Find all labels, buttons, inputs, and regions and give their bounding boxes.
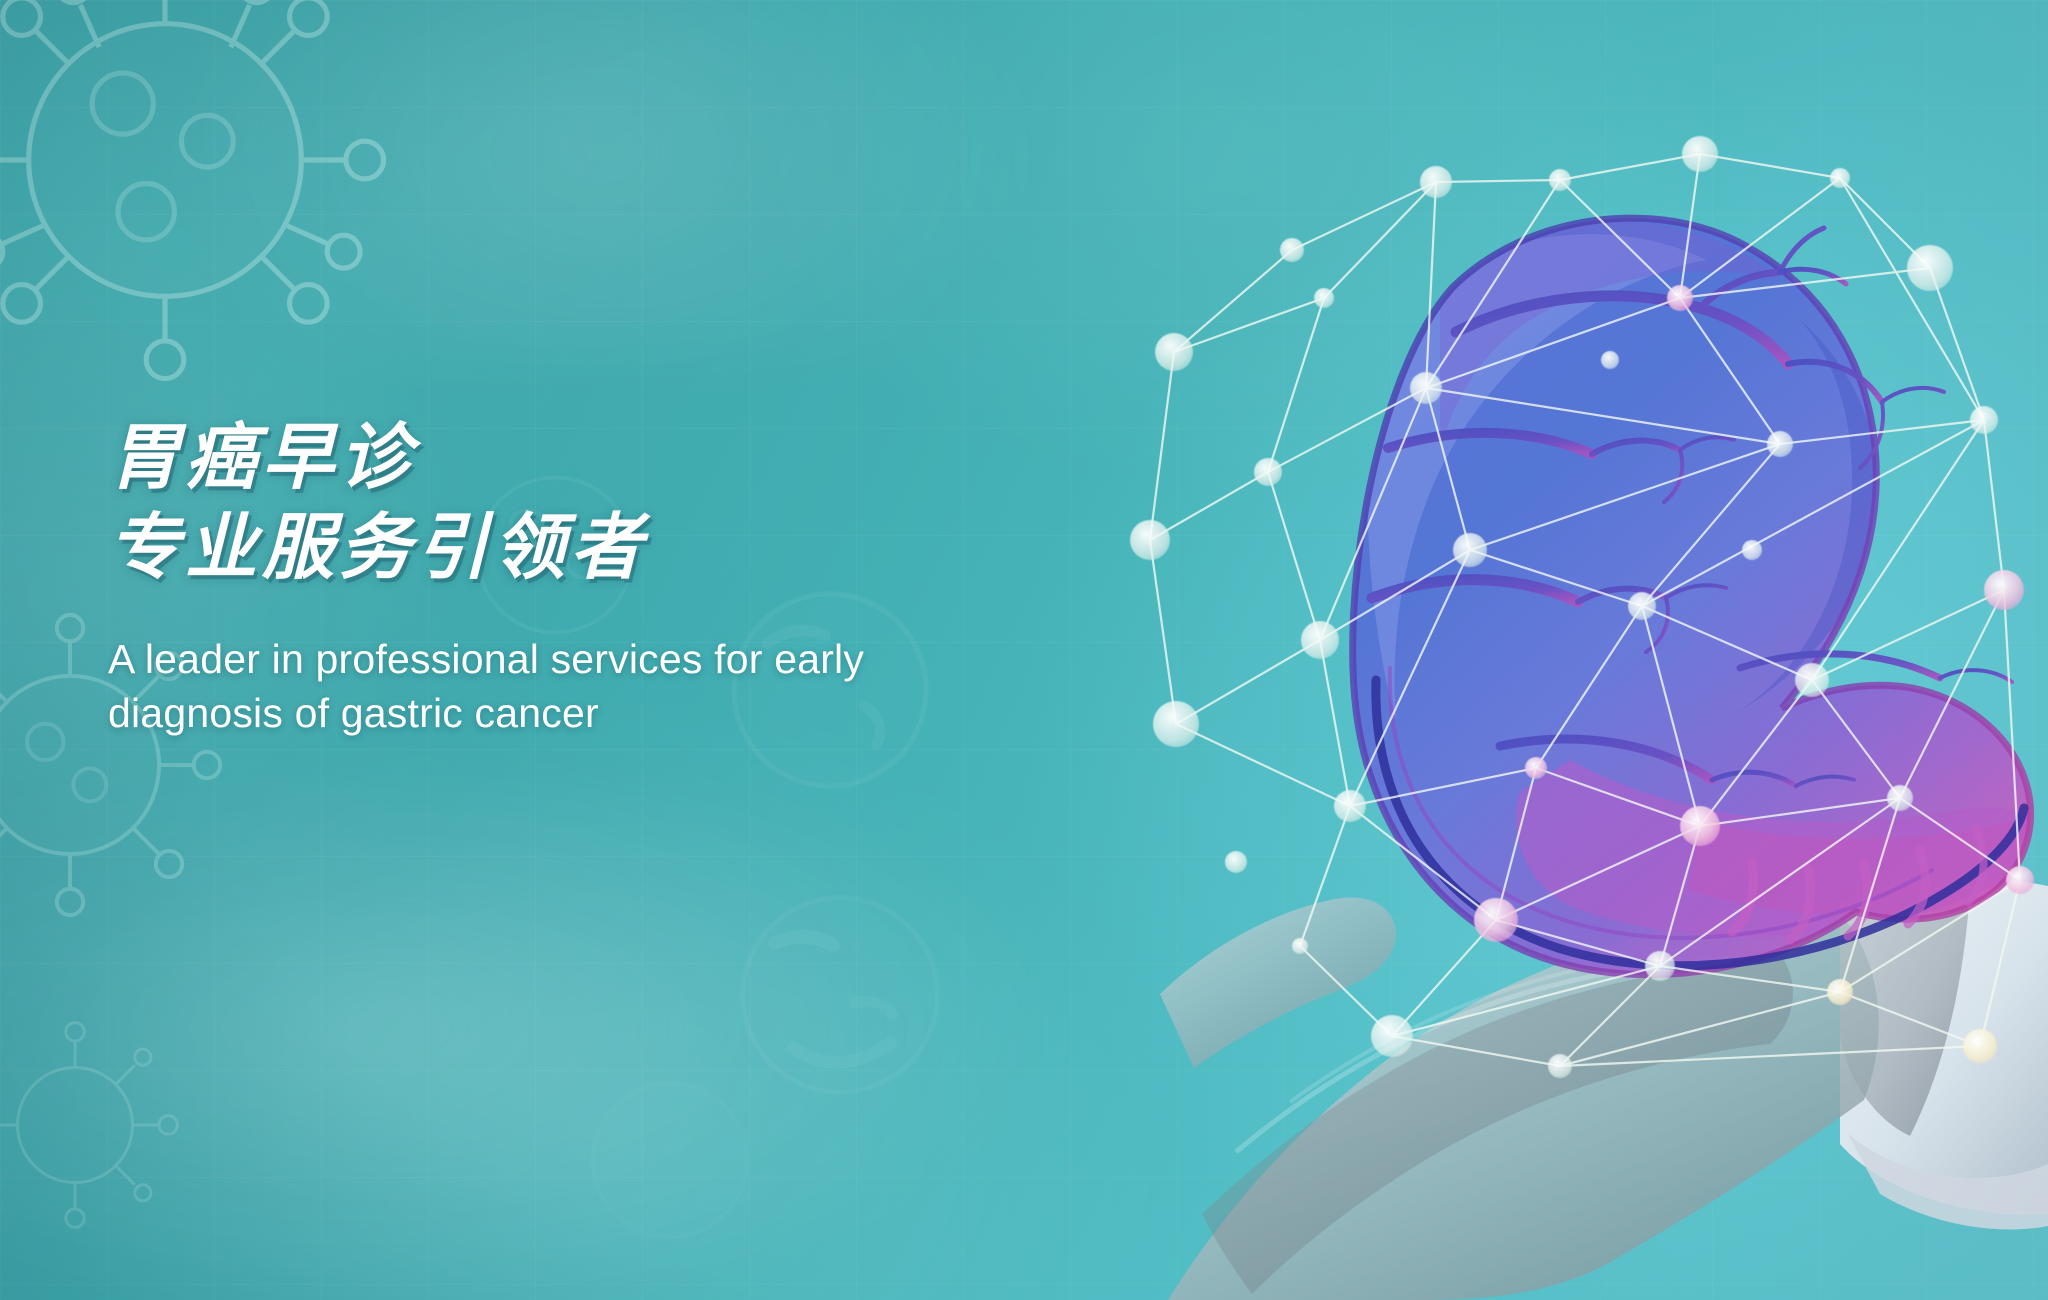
headline-line-2: 专业服务引领者: [108, 510, 1118, 588]
subtitle-line-2: diagnosis of gastric cancer: [108, 690, 599, 736]
stomach-hand-network-graphic: [1140, 120, 2048, 1300]
headline-line-1: 胃癌早诊: [108, 420, 1118, 498]
hero-banner: 胃癌早诊 专业服务引领者 A leader in professional se…: [0, 0, 2048, 1300]
hero-text-block: 胃癌早诊 专业服务引领者 A leader in professional se…: [108, 420, 1118, 741]
stomach-organ: [1353, 218, 2048, 975]
subtitle-line-1: A leader in professional services for ea…: [108, 636, 864, 682]
subtitle: A leader in professional services for ea…: [108, 632, 1118, 741]
